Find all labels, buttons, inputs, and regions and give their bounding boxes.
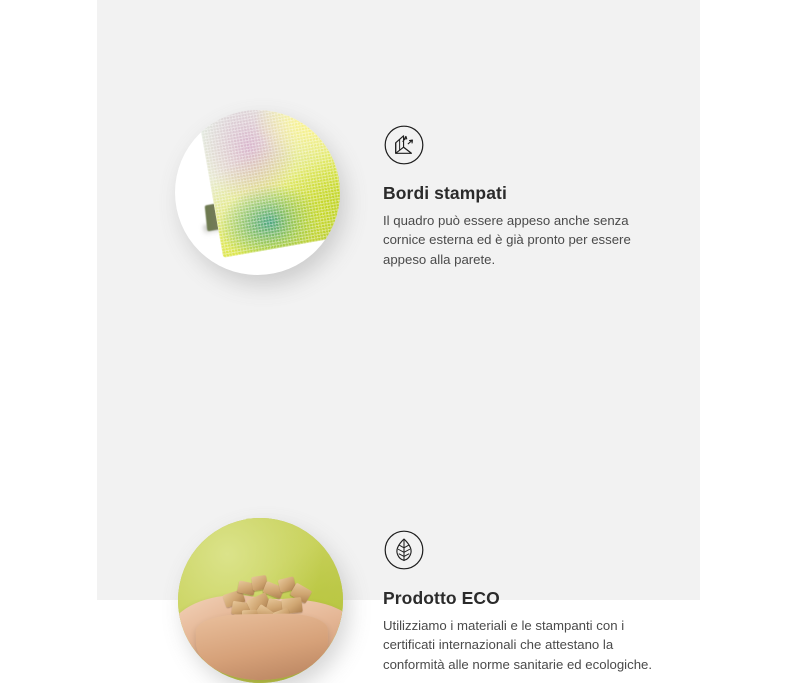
feature-title: Prodotto ECO (383, 588, 673, 609)
content-panel: Bordi stampati Il quadro può essere appe… (97, 0, 700, 600)
leaf-icon (383, 529, 425, 571)
product-feature-page: Bordi stampati Il quadro può essere appe… (0, 0, 800, 600)
feature-title: Bordi stampati (383, 183, 673, 204)
eco-hands-photo-inner (178, 518, 343, 683)
feature-block-eco-product: Prodotto ECO Utilizziamo i materiali e l… (97, 205, 700, 505)
feature-description: Utilizziamo i materiali e le stampanti c… (383, 616, 658, 674)
eco-product-text-column: Prodotto ECO Utilizziamo i materiali e l… (383, 529, 673, 674)
eco-hands-photo (178, 518, 343, 683)
printed-edges-icon (383, 124, 425, 166)
